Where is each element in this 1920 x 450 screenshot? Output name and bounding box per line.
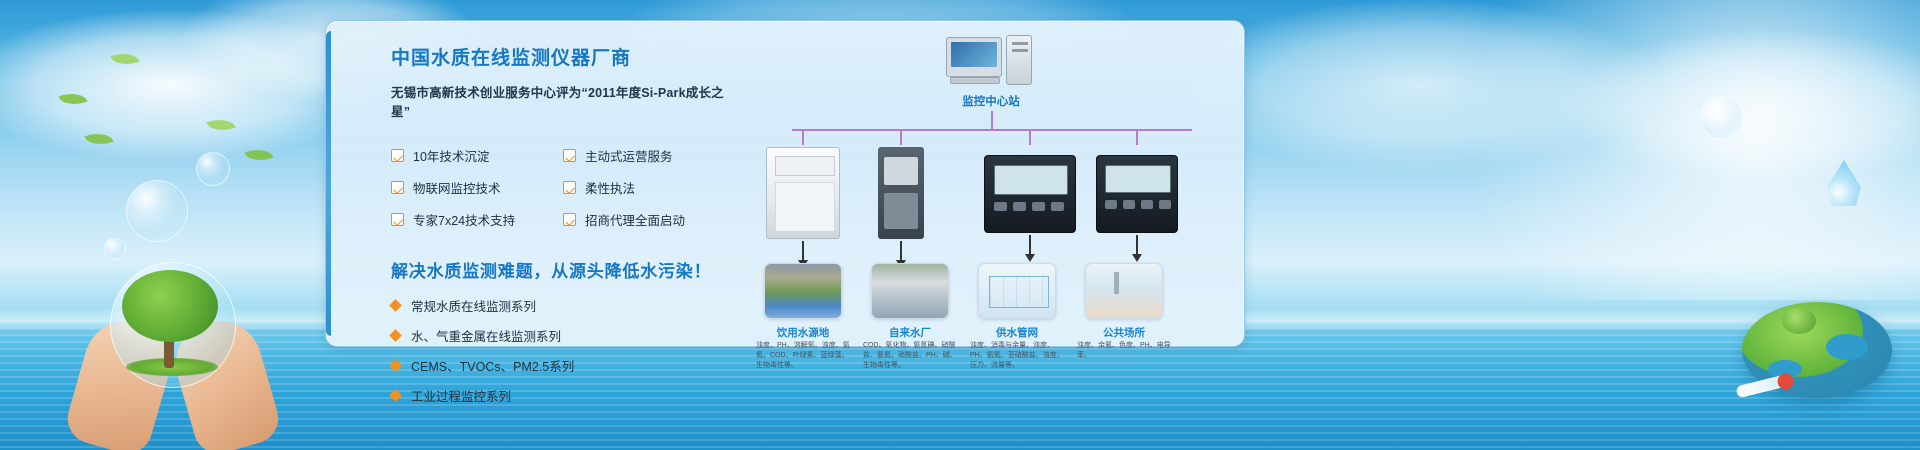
hands-holding-tree-illustration <box>78 250 268 450</box>
feature-label: 柔性执法 <box>585 178 635 197</box>
product-line-item: CEMS、TVOCs、PM2.5系列 <box>391 356 731 375</box>
down-arrow-icon <box>802 241 804 261</box>
page-subtitle: 无锡市高新技术创业服务中心评为“2011年度Si-Park成长之星” <box>391 82 731 120</box>
desktop-computer-icon <box>946 35 1038 87</box>
tree-shape <box>1782 308 1816 334</box>
controller-panel-icon <box>1096 155 1178 233</box>
monitor-screen-shape <box>946 37 1002 77</box>
connector-line-drop <box>1136 131 1138 145</box>
site-photo-waterworks <box>871 263 949 319</box>
down-arrow-icon <box>1136 235 1138 255</box>
node-parameters: 浊度、消毒与余量、浊度、PH、氨氮、亚硝酸盐、浊度、压力、流量等。 <box>970 341 1066 371</box>
product-line-label: 水、气重金属在线监测系列 <box>411 326 561 345</box>
leaf-icon <box>206 114 235 135</box>
button-row-shape <box>1105 200 1171 220</box>
connector-line-drop <box>900 131 902 145</box>
site-photo-drinking-water-source <box>764 263 842 319</box>
checkbox-icon <box>391 213 404 226</box>
panel-button-shape <box>994 202 1007 211</box>
down-arrow-icon <box>1029 235 1031 255</box>
product-line-list: 常规水质在线监测系列 水、气重金属在线监测系列 CEMS、TVOCs、PM2.5… <box>391 296 731 405</box>
center-station-label: 监控中心站 <box>916 93 1066 109</box>
panel-button-shape <box>1013 202 1026 211</box>
feature-item: 招商代理全面启动 <box>563 210 735 229</box>
green-earth-illustration <box>1742 278 1892 398</box>
panel-button-shape <box>1123 200 1135 209</box>
sun-glow <box>1420 0 1920 300</box>
computer-tower-shape <box>1006 35 1032 85</box>
cabinet-analyzer-icon <box>766 147 840 239</box>
bubble-shape <box>196 152 230 186</box>
cloud-shape <box>1180 0 1660 170</box>
product-line-label: 常规水质在线监测系列 <box>411 296 536 315</box>
product-line-item: 工业过程监控系列 <box>391 386 731 405</box>
feature-item: 专家7x24技术支持 <box>391 210 563 229</box>
feature-label: 主动式运营服务 <box>585 146 673 165</box>
leaf-icon <box>110 48 139 69</box>
feature-item: 柔性执法 <box>563 178 735 197</box>
diamond-bullet-icon <box>389 329 402 342</box>
feature-item: 10年技术沉淀 <box>391 146 563 165</box>
connector-line-vertical <box>991 111 993 129</box>
connector-line-horizontal <box>792 129 1192 131</box>
down-arrow-icon <box>900 241 902 261</box>
panel-button-shape <box>1051 202 1064 211</box>
feature-label: 专家7x24技术支持 <box>413 210 515 229</box>
feature-item: 主动式运营服务 <box>563 146 735 165</box>
page-title: 中国水质在线监测仪器厂商 <box>391 43 731 70</box>
feature-label: 物联网监控技术 <box>413 178 501 197</box>
product-line-item: 常规水质在线监测系列 <box>391 296 731 315</box>
monitor-stand-shape <box>950 77 1000 84</box>
tree-canopy-shape <box>122 270 218 342</box>
controller-panel-icon <box>984 155 1076 233</box>
system-architecture-diagram: 监控中心站 <box>756 35 1226 335</box>
leaf-icon <box>244 144 273 165</box>
product-line-item: 水、气重金属在线监测系列 <box>391 326 731 345</box>
product-line-label: 工业过程监控系列 <box>411 386 511 405</box>
checkbox-icon <box>391 149 404 162</box>
feature-label: 10年技术沉淀 <box>413 146 489 165</box>
node-caption: 供水管网 <box>967 325 1067 340</box>
rack-analyzer-icon <box>878 147 924 239</box>
button-row-shape <box>994 202 1068 224</box>
cloud-shape <box>0 10 380 160</box>
product-line-label: CEMS、TVOCs、PM2.5系列 <box>411 356 574 375</box>
site-photo-public-place <box>1085 263 1163 319</box>
checkbox-icon <box>563 149 576 162</box>
lcd-screen-shape <box>1105 165 1171 193</box>
node-caption: 公共场所 <box>1074 325 1174 340</box>
water-droplet-icon <box>1824 160 1864 212</box>
diamond-bullet-icon <box>389 359 402 372</box>
node-parameters: 浊度、余氯、色度、PH、电导率。 <box>1077 341 1173 361</box>
node-caption: 饮用水源地 <box>753 325 853 340</box>
leaf-icon <box>58 88 87 109</box>
site-photo-pipe-network <box>978 263 1056 319</box>
marketing-text-column: 中国水质在线监测仪器厂商 无锡市高新技术创业服务中心评为“2011年度Si-Pa… <box>391 43 731 405</box>
connector-line-drop <box>802 131 804 145</box>
panel-button-shape <box>1159 200 1171 209</box>
connector-line-drop <box>1029 131 1031 145</box>
panel-button-shape <box>1105 200 1117 209</box>
content-panel: 中国水质在线监测仪器厂商 无锡市高新技术创业服务中心评为“2011年度Si-Pa… <box>325 20 1245 347</box>
node-parameters: 浊度、PH、溶解氧、浊度、氨氮、COD、叶绿素、蓝绿藻、生物毒性等。 <box>756 341 852 371</box>
checkbox-icon <box>563 213 576 226</box>
diamond-bullet-icon <box>389 389 402 402</box>
checkbox-icon <box>391 181 404 194</box>
leaf-icon <box>84 128 113 149</box>
diamond-bullet-icon <box>389 299 402 312</box>
panel-button-shape <box>1032 202 1045 211</box>
feature-label: 招商代理全面启动 <box>585 210 685 229</box>
panel-button-shape <box>1141 200 1153 209</box>
bubble-shape <box>1700 96 1744 140</box>
checkbox-icon <box>563 181 576 194</box>
pond-shape <box>1826 334 1868 360</box>
feature-list: 10年技术沉淀 主动式运营服务 物联网监控技术 柔性执法 专家7x24技术支持 … <box>391 146 731 229</box>
feature-item: 物联网监控技术 <box>391 178 563 197</box>
bubble-shape <box>126 180 188 242</box>
lcd-screen-shape <box>994 165 1068 195</box>
panel-left-accent-bar <box>326 31 331 336</box>
node-caption: 自来水厂 <box>860 325 960 340</box>
node-parameters: COD、氧化物、氨氮碘、硝酸盐、氨氮、硝酸盐、PH、碱、生物毒性等。 <box>863 341 959 371</box>
section-title: 解决水质监测难题，从源头降低水污染！ <box>391 257 731 282</box>
